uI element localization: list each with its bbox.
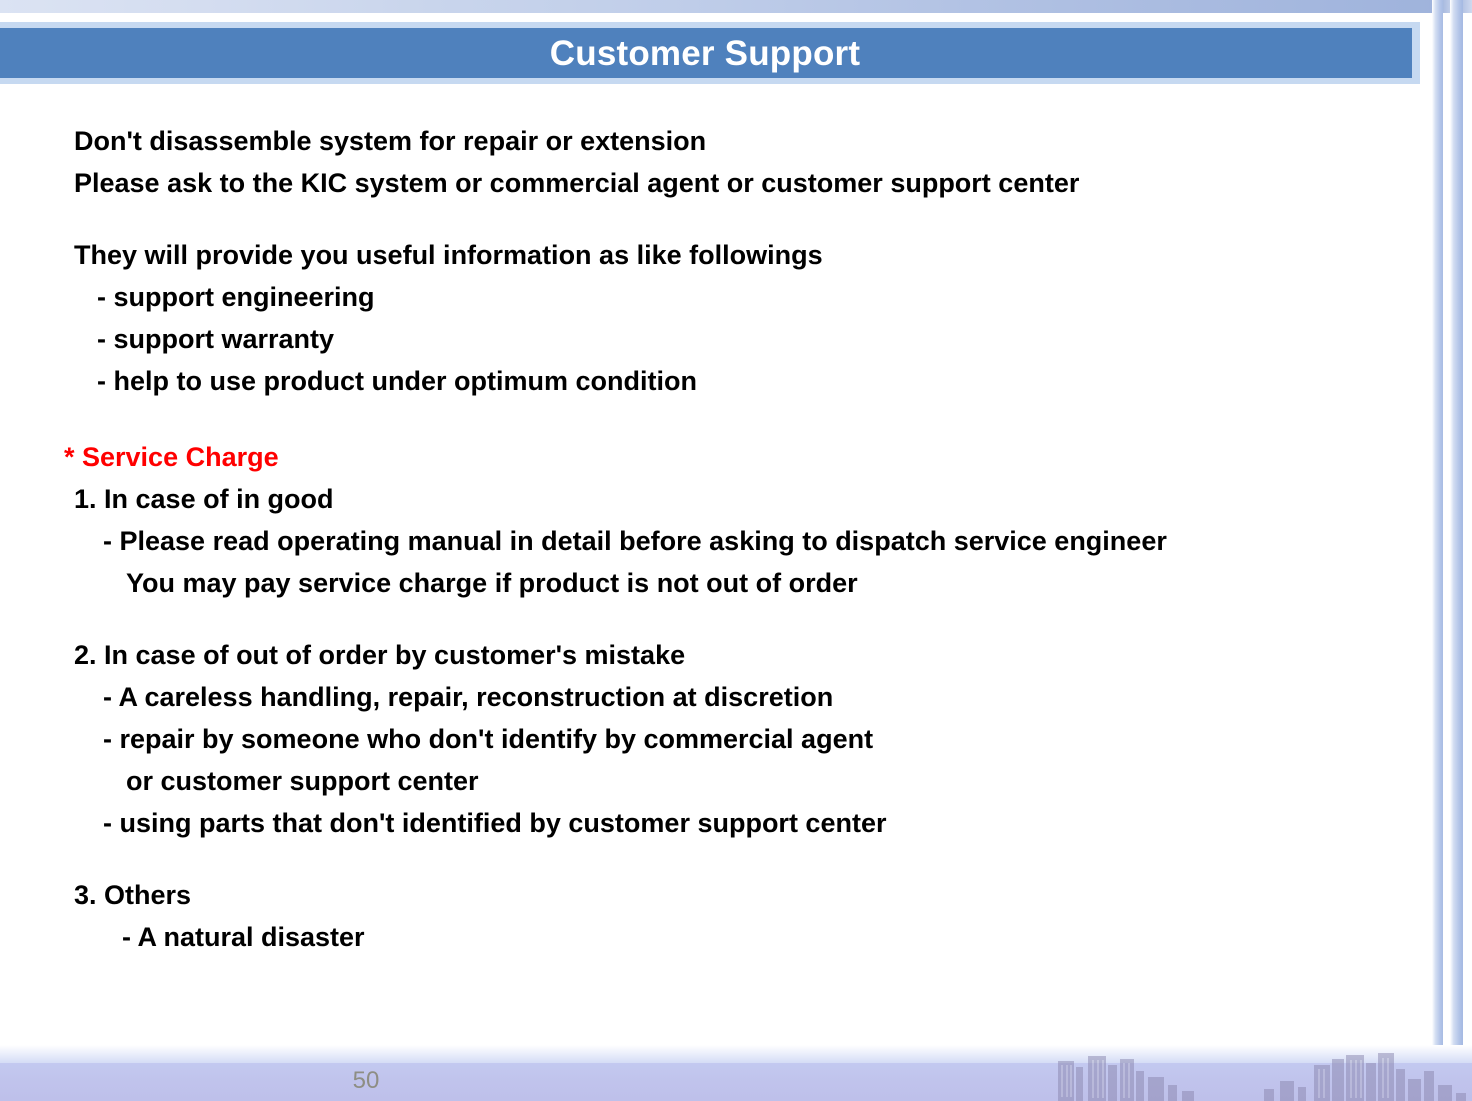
body-line: You may pay service charge if product is… <box>0 562 1420 604</box>
page-number: 50 <box>0 1067 1472 1095</box>
service-charge-heading: * Service Charge <box>0 436 1420 478</box>
page-title: Customer Support <box>550 36 860 71</box>
text-spacer <box>0 604 1420 634</box>
slide-body: Don't disassemble system for repair or e… <box>0 120 1420 958</box>
text-spacer <box>0 204 1420 234</box>
body-line: - support warranty <box>0 318 1420 360</box>
body-line: Don't disassemble system for repair or e… <box>0 120 1420 162</box>
body-line: 3. Others <box>0 874 1420 916</box>
body-line: - help to use product under optimum cond… <box>0 360 1420 402</box>
body-line: They will provide you useful information… <box>0 234 1420 276</box>
body-line: - repair by someone who don't identify b… <box>0 718 1420 760</box>
slide-title-bar: Customer Support <box>0 28 1412 78</box>
body-line: - A natural disaster <box>0 916 1420 958</box>
right-accent-stripe-1 <box>1432 0 1443 1101</box>
body-line: 1. In case of in good <box>0 478 1420 520</box>
top-gradient-strip <box>0 0 1440 13</box>
body-line: - A careless handling, repair, reconstru… <box>0 676 1420 718</box>
slide-footer: 50 <box>0 1045 1472 1101</box>
right-accent-stripe-2 <box>1450 0 1463 1101</box>
text-spacer <box>0 402 1420 436</box>
body-line: - support engineering <box>0 276 1420 318</box>
body-line: - using parts that don't identified by c… <box>0 802 1420 844</box>
body-line: - Please read operating manual in detail… <box>0 520 1420 562</box>
body-line: 2. In case of out of order by customer's… <box>0 634 1420 676</box>
body-line: Please ask to the KIC system or commerci… <box>0 162 1420 204</box>
text-spacer <box>0 844 1420 874</box>
body-line: or customer support center <box>0 760 1420 802</box>
